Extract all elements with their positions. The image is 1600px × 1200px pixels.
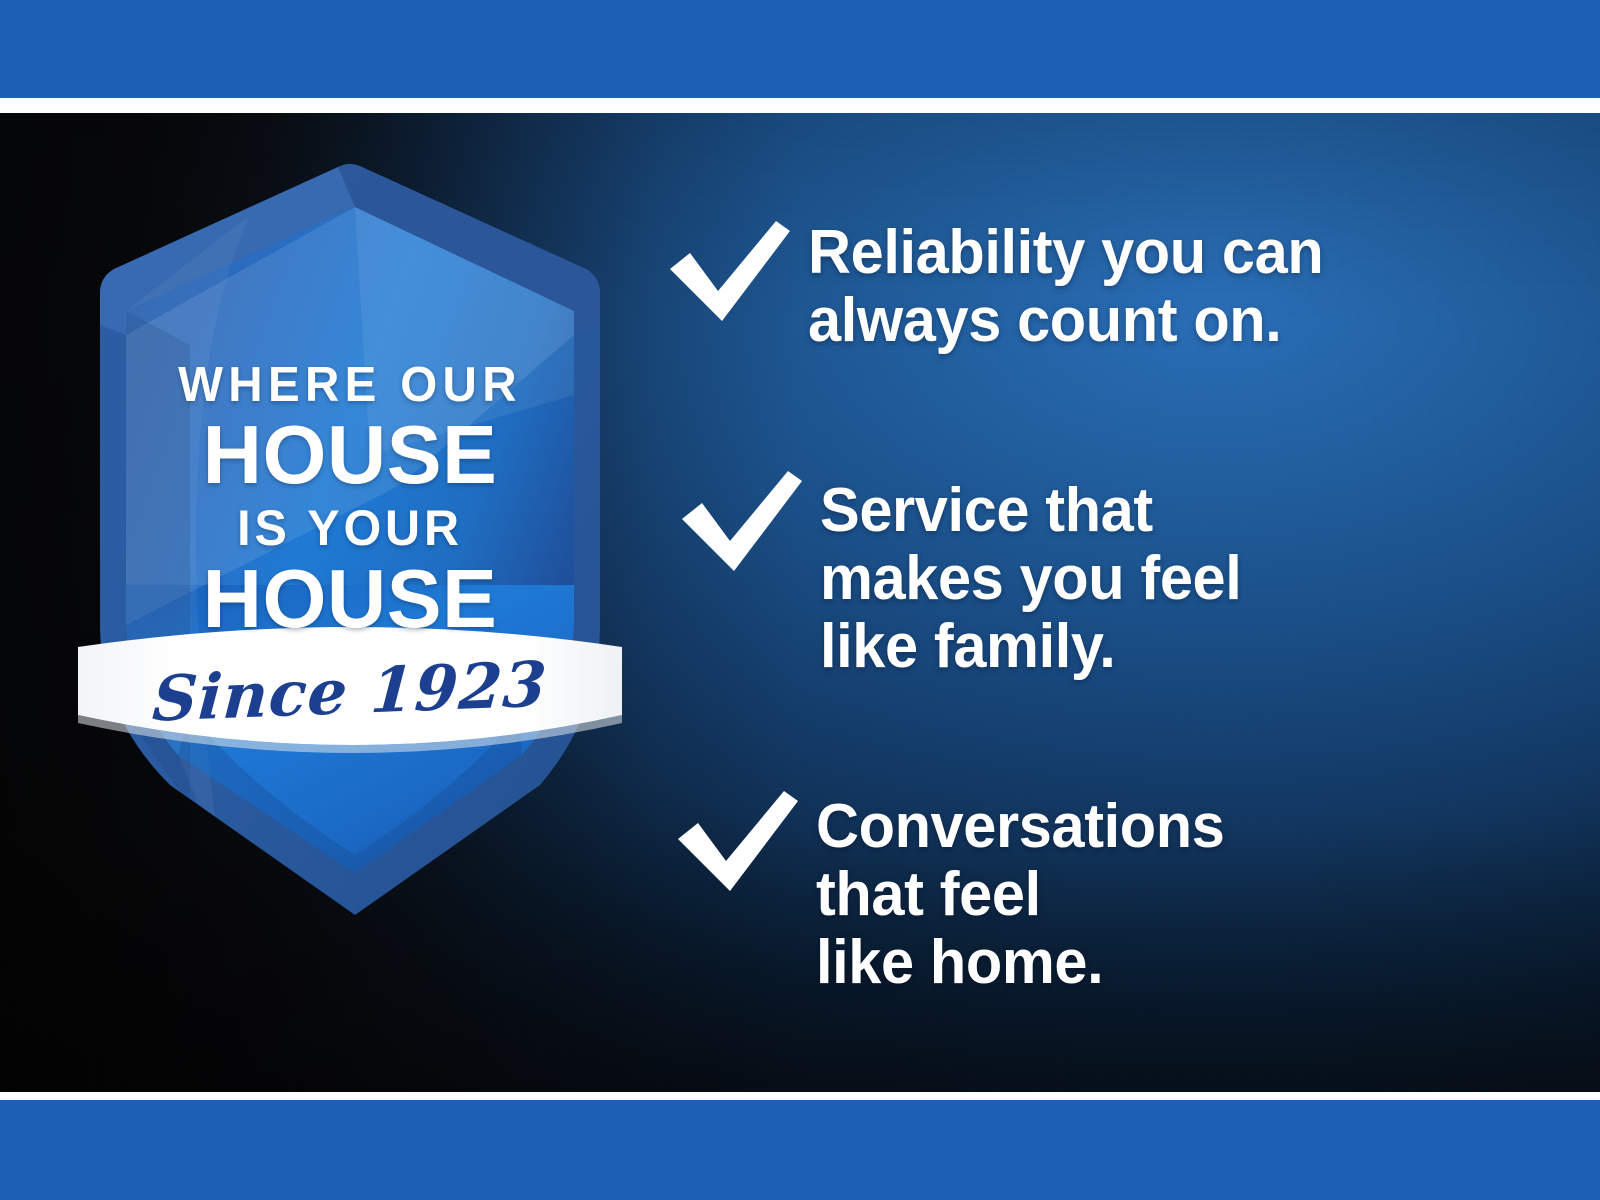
- checkmark-icon: [672, 463, 812, 583]
- checkmark-icon: [668, 783, 808, 903]
- checklist-line: like family.: [820, 613, 1241, 681]
- checklist-line: like home.: [816, 929, 1224, 997]
- checklist-text-service: Service that makes you feel like family.: [820, 463, 1241, 682]
- checklist-line: Conversations: [816, 793, 1224, 861]
- checklist-text-conversations: Conversations that feel like home.: [816, 783, 1224, 998]
- shield-badge: WHERE OUR HOUSE IS YOUR HOUSE Since 1923: [70, 155, 630, 945]
- checklist-text-reliability: Reliability you can always count on.: [808, 213, 1323, 355]
- checklist-line: always count on.: [808, 287, 1323, 355]
- checklist-item-service: Service that makes you feel like family.: [672, 463, 1259, 682]
- top-brand-bar: [0, 0, 1600, 98]
- checkmark-icon: [660, 213, 800, 333]
- bottom-brand-bar: [0, 1100, 1600, 1200]
- checklist-line: that feel: [816, 861, 1224, 929]
- benefits-checklist: Reliability you can always count on. Ser…: [660, 113, 1540, 1092]
- checklist-line: Reliability you can: [808, 219, 1323, 287]
- checklist-line: makes you feel: [820, 545, 1241, 613]
- since-banner: [78, 627, 622, 753]
- checklist-line: Service that: [820, 477, 1241, 545]
- checklist-item-conversations: Conversations that feel like home.: [668, 783, 1241, 998]
- checklist-item-reliability: Reliability you can always count on.: [660, 213, 1345, 355]
- promo-graphic: WHERE OUR HOUSE IS YOUR HOUSE Since 1923…: [0, 0, 1600, 1200]
